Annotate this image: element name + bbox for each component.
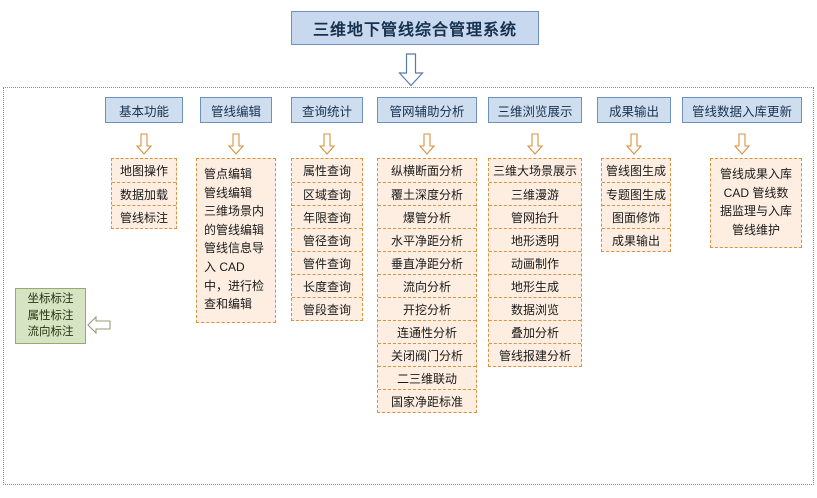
list-item[interactable]: 流向分析 <box>378 274 476 297</box>
list-item[interactable]: 连通性分析 <box>378 320 476 343</box>
arrow-down-icon <box>626 129 642 159</box>
arrow-down-icon <box>527 129 543 159</box>
column-body-network-assist-analysis: 纵横断面分析覆土深度分析爆管分析水平净距分析垂直净距分析流向分析开挖分析连通性分… <box>377 158 477 413</box>
page-title: 三维地下管线综合管理系统 <box>291 11 539 45</box>
list-item[interactable]: 三维大场景展示 <box>489 159 581 182</box>
list-item[interactable]: 管段查询 <box>292 297 362 320</box>
list-item[interactable]: 图面修饰 <box>602 205 670 228</box>
arrow-down-icon <box>734 129 750 159</box>
column-body-pipeline-editing: 管点编辑管线编辑三维场景内的管线编辑管线信息导入 CAD 中，进行检查和编辑 <box>196 158 276 323</box>
list-item[interactable]: 地图操作 <box>112 159 176 182</box>
annotation-line-3: 流向标注 <box>28 324 74 341</box>
list-item[interactable]: 长度查询 <box>292 274 362 297</box>
annotation-line-1: 坐标标注 <box>28 291 74 308</box>
text-block: 管线成果入库CAD 管线数据监理与入库管线维护 <box>711 159 801 247</box>
list-item[interactable]: 地形生成 <box>489 274 581 297</box>
list-item[interactable]: 区域查询 <box>292 182 362 205</box>
arrow-left-icon <box>87 316 111 334</box>
list-item[interactable]: 成果输出 <box>602 228 670 251</box>
column-header-network-assist-analysis[interactable]: 管网辅助分析 <box>377 97 477 123</box>
list-item[interactable]: 覆土深度分析 <box>378 182 476 205</box>
list-item[interactable]: 管线报建分析 <box>489 343 581 366</box>
list-item[interactable]: 水平净距分析 <box>378 228 476 251</box>
list-item[interactable]: 管径查询 <box>292 228 362 251</box>
column-header-pipeline-data-import-update[interactable]: 管线数据入库更新 <box>682 97 802 123</box>
column-body-3d-browse-display: 三维大场景展示三维漫游管网抬升地形透明动画制作地形生成数据浏览叠加分析管线报建分… <box>488 158 582 367</box>
list-item[interactable]: 管网抬升 <box>489 205 581 228</box>
list-item[interactable]: 三维漫游 <box>489 182 581 205</box>
arrow-down-icon <box>419 129 435 159</box>
list-item[interactable]: 管件查询 <box>292 251 362 274</box>
list-item[interactable]: 动画制作 <box>489 251 581 274</box>
annotation-line-2: 属性标注 <box>28 308 74 325</box>
column-header-pipeline-editing[interactable]: 管线编辑 <box>200 97 272 123</box>
list-item[interactable]: 国家净距标准 <box>378 389 476 412</box>
list-item[interactable]: 开挖分析 <box>378 297 476 320</box>
text-block: 管点编辑管线编辑三维场景内的管线编辑管线信息导入 CAD 中，进行检查和编辑 <box>197 159 275 322</box>
column-header-query-statistics[interactable]: 查询统计 <box>291 97 363 123</box>
arrow-down-icon <box>398 53 424 87</box>
list-item[interactable]: 爆管分析 <box>378 205 476 228</box>
list-item[interactable]: 纵横断面分析 <box>378 159 476 182</box>
diagram-container: 坐标标注 属性标注 流向标注 基本功能 地图操作数据加载管线标注管线编辑 管点编… <box>3 87 814 485</box>
column-body-basic-functions: 地图操作数据加载管线标注 <box>111 158 177 229</box>
list-item[interactable]: 专题图生成 <box>602 182 670 205</box>
list-item[interactable]: 垂直净距分析 <box>378 251 476 274</box>
column-body-query-statistics: 属性查询区域查询年限查询管径查询管件查询长度查询管段查询 <box>291 158 363 321</box>
list-item[interactable]: 年限查询 <box>292 205 362 228</box>
list-item[interactable]: 数据加载 <box>112 182 176 205</box>
list-item[interactable]: 数据浏览 <box>489 297 581 320</box>
list-item[interactable]: 地形透明 <box>489 228 581 251</box>
annotation-box: 坐标标注 属性标注 流向标注 <box>15 288 86 344</box>
column-body-pipeline-data-import-update: 管线成果入库CAD 管线数据监理与入库管线维护 <box>710 158 802 248</box>
column-header-basic-functions[interactable]: 基本功能 <box>105 97 183 123</box>
column-header-result-output[interactable]: 成果输出 <box>597 97 671 123</box>
list-item[interactable]: 叠加分析 <box>489 320 581 343</box>
list-item[interactable]: 二三维联动 <box>378 366 476 389</box>
arrow-down-icon <box>319 129 335 159</box>
column-header-3d-browse-display[interactable]: 三维浏览展示 <box>488 97 582 123</box>
list-item[interactable]: 管线标注 <box>112 205 176 228</box>
arrow-down-icon <box>136 129 152 159</box>
list-item[interactable]: 管线图生成 <box>602 159 670 182</box>
column-body-result-output: 管线图生成专题图生成图面修饰成果输出 <box>601 158 671 252</box>
list-item[interactable]: 关闭阀门分析 <box>378 343 476 366</box>
list-item[interactable]: 属性查询 <box>292 159 362 182</box>
arrow-down-icon <box>228 129 244 159</box>
